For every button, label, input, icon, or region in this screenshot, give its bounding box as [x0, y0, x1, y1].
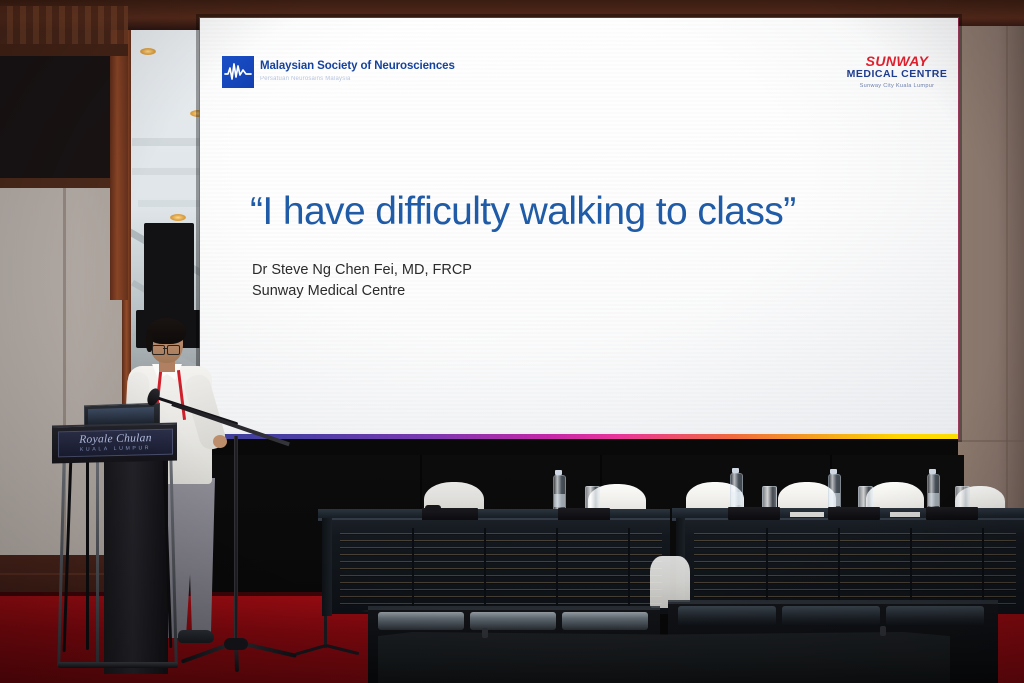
presenter-right-hand — [213, 435, 227, 448]
sponsor-logo-line1: SUNWAY — [832, 54, 962, 68]
eyeglasses-bridge — [163, 348, 168, 349]
org-logo-title: Malaysian Society of Neurosciences — [260, 60, 455, 72]
ceiling-downlight — [140, 48, 156, 55]
drape-clip — [482, 628, 488, 638]
mic-stand-hub — [224, 638, 248, 650]
eyeglasses-left-lens — [152, 345, 165, 355]
desk-microphone — [425, 505, 441, 511]
table-slat-pattern — [340, 528, 662, 606]
table-nameplate — [926, 507, 978, 520]
eyeglasses-right-lens — [167, 345, 180, 355]
slide-byline: Dr Steve Ng Chen Fei, MD, FRCP Sunway Me… — [252, 260, 472, 301]
table-paper — [890, 512, 920, 517]
ceiling-carving-band — [0, 44, 128, 56]
sponsor-logo-line3: Sunway City Kuala Lumpur — [832, 82, 962, 91]
table-slat-pattern — [694, 528, 1016, 606]
lectern-base — [58, 662, 178, 668]
eeg-waveform-glyph — [222, 56, 254, 88]
photo-scene: Malaysian Society of Neurosciences Persa… — [0, 0, 1024, 683]
sofa-cushion — [378, 612, 464, 630]
presenter-name: Dr Steve Ng Chen Fei, MD, FRCP — [252, 260, 472, 281]
drape-clip — [880, 626, 886, 636]
sponsor-logo-line2: MEDICAL CENTRE — [832, 68, 962, 82]
table-nameplate — [828, 507, 880, 520]
slide-headline: “I have difficulty walking to class” — [250, 190, 796, 234]
sofa-cushion — [678, 606, 776, 626]
presenter-shoe — [178, 630, 214, 643]
org-logo-subtitle: Persatuan Neurosains Malaysia — [260, 76, 351, 82]
mic-stand-pole — [234, 436, 238, 648]
presenter-affiliation: Sunway Medical Centre — [252, 281, 472, 302]
ceiling-carving — [0, 6, 128, 44]
table-paper — [790, 512, 824, 517]
sofa-cushion — [562, 612, 648, 630]
eeg-waveform-icon — [222, 56, 254, 88]
sofa-cushion — [886, 606, 984, 626]
ceiling-downlight — [170, 214, 186, 221]
venue-nameplate: Royale Chulan KUALA LUMPUR — [58, 429, 173, 458]
av-speaker-cabinet — [144, 223, 194, 318]
sponsor-logo: SUNWAY MEDICAL CENTRE Sunway City Kuala … — [832, 54, 962, 91]
right-wall-seam-horizontal — [958, 440, 1024, 442]
sofa-cushion — [782, 606, 880, 626]
table-drape-cloth — [378, 632, 950, 683]
lectern-body — [104, 452, 168, 674]
table-nameplate — [728, 507, 780, 520]
